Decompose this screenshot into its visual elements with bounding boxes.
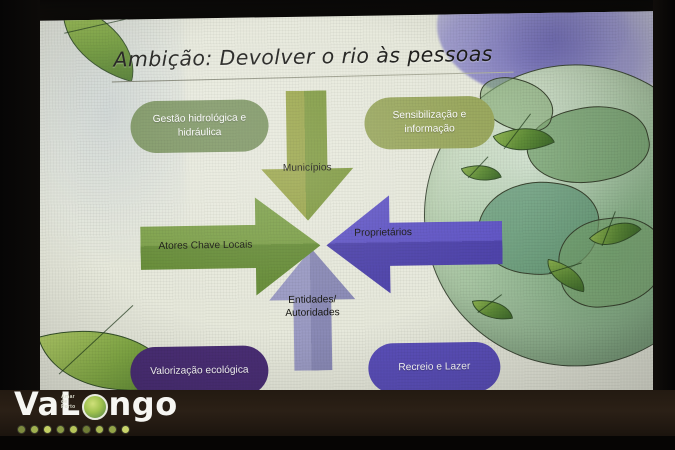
valongo-logo: VaL Amar de Porto ngo: [14, 388, 178, 434]
arrow-label-atores-chave-locais: Atores Chave Locais: [144, 239, 296, 254]
logo-dot: [56, 425, 65, 434]
room-wall-left: [0, 0, 40, 450]
logo-dot: [95, 425, 104, 434]
room-wall-right: [653, 0, 675, 450]
box-gestao-hidrologica: Gestão hidrológica e hidráulica: [130, 99, 269, 153]
arrow-label-municipios: Municípios: [261, 162, 353, 176]
logo-dot: [108, 425, 117, 434]
logo-dot: [43, 425, 52, 434]
projection-screen: Ambição: Devolver o rio às pessoas Munic…: [33, 11, 663, 425]
slide-title: Ambição: Devolver o rio às pessoas: [113, 42, 493, 72]
logo-text-after: ngo: [109, 388, 178, 420]
room-floor-edge: [0, 436, 675, 450]
arrow-down-municipios: [260, 90, 354, 221]
arrow-label-proprietarios: Proprietários: [336, 226, 486, 241]
arrow-label-entidades-autoridades: Entidades/Autoridades: [255, 294, 369, 321]
title-divider: [112, 72, 514, 83]
logo-dot: [17, 425, 26, 434]
photo-of-projected-slide: Ambição: Devolver o rio às pessoas Munic…: [0, 0, 675, 450]
logo-dot: [82, 425, 91, 434]
logo-globe-icon: Amar de Porto: [82, 394, 108, 420]
arrow-left-proprietarios: [326, 194, 504, 295]
logo-dot: [121, 425, 130, 434]
logo-tagline: Amar de Porto: [61, 395, 76, 410]
box-recreio-lazer: Recreio e Lazer: [368, 342, 501, 394]
logo-dot-row: [17, 425, 178, 434]
logo-dot: [30, 425, 39, 434]
box-sensibilizacao-informacao: Sensibilização e informação: [364, 96, 495, 150]
logo-dot: [69, 425, 78, 434]
